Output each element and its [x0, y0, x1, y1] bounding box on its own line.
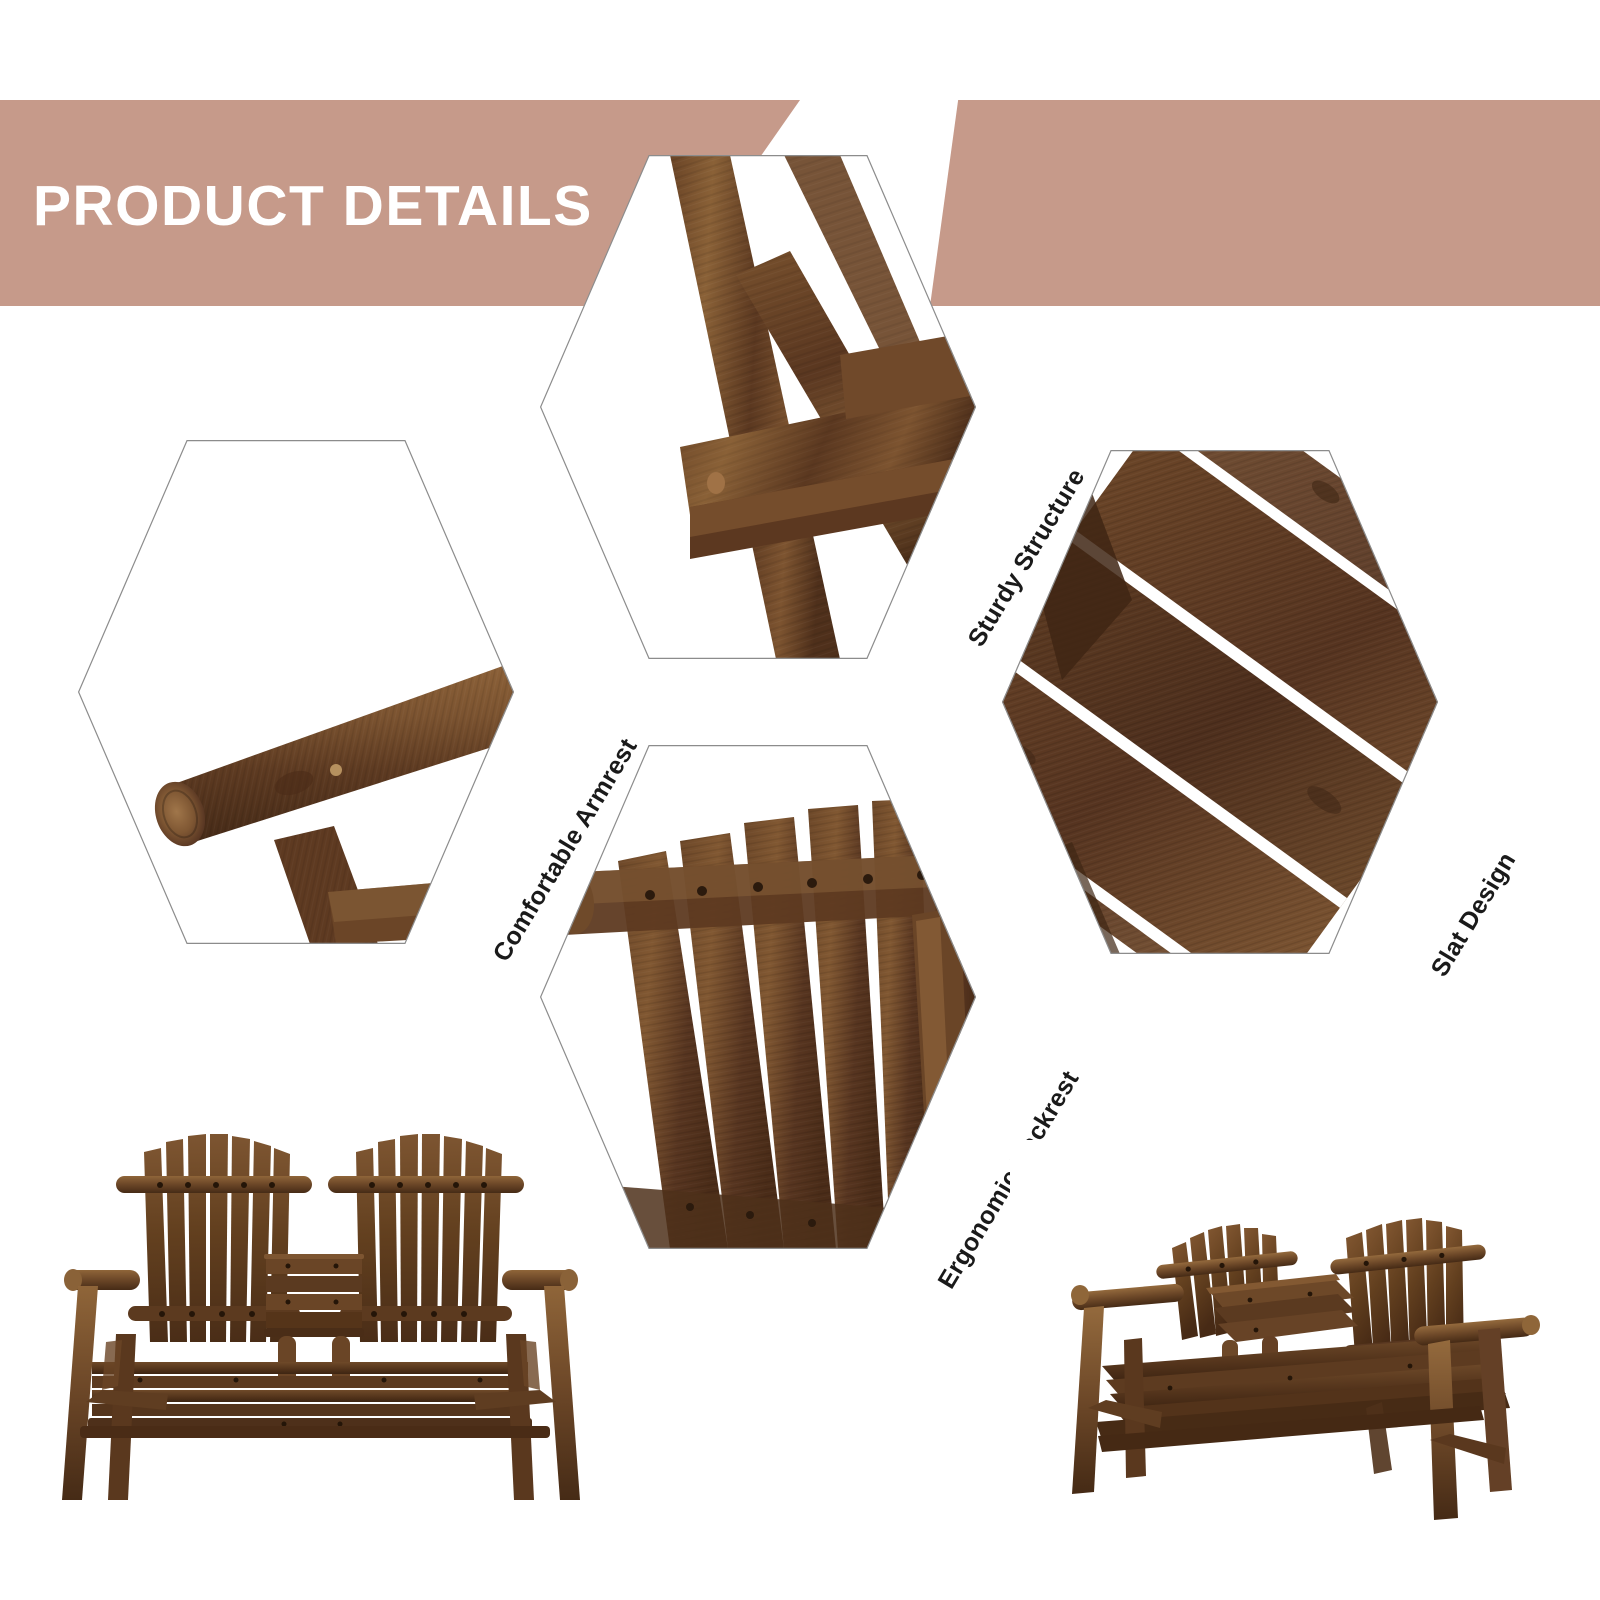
feature-hexagon-comfortable-armrest — [78, 440, 514, 944]
feature-hexagon-slat-design — [1002, 450, 1438, 954]
feature-photo-slat-design — [1002, 450, 1438, 954]
feature-photo-ergonomic-backrest — [540, 745, 976, 1249]
product-photo-angle-view — [1010, 1140, 1555, 1540]
header-banner-right — [930, 100, 1600, 306]
product-details-page: PRODUCT DETAILS — [0, 0, 1600, 1600]
feature-label-slat-design: Slat Design — [1426, 847, 1523, 981]
product-photo-front-view — [40, 1090, 580, 1510]
feature-hexagon-ergonomic-backrest — [540, 745, 976, 1249]
feature-photo-comfortable-armrest — [78, 440, 514, 944]
page-title: PRODUCT DETAILS — [33, 173, 593, 239]
